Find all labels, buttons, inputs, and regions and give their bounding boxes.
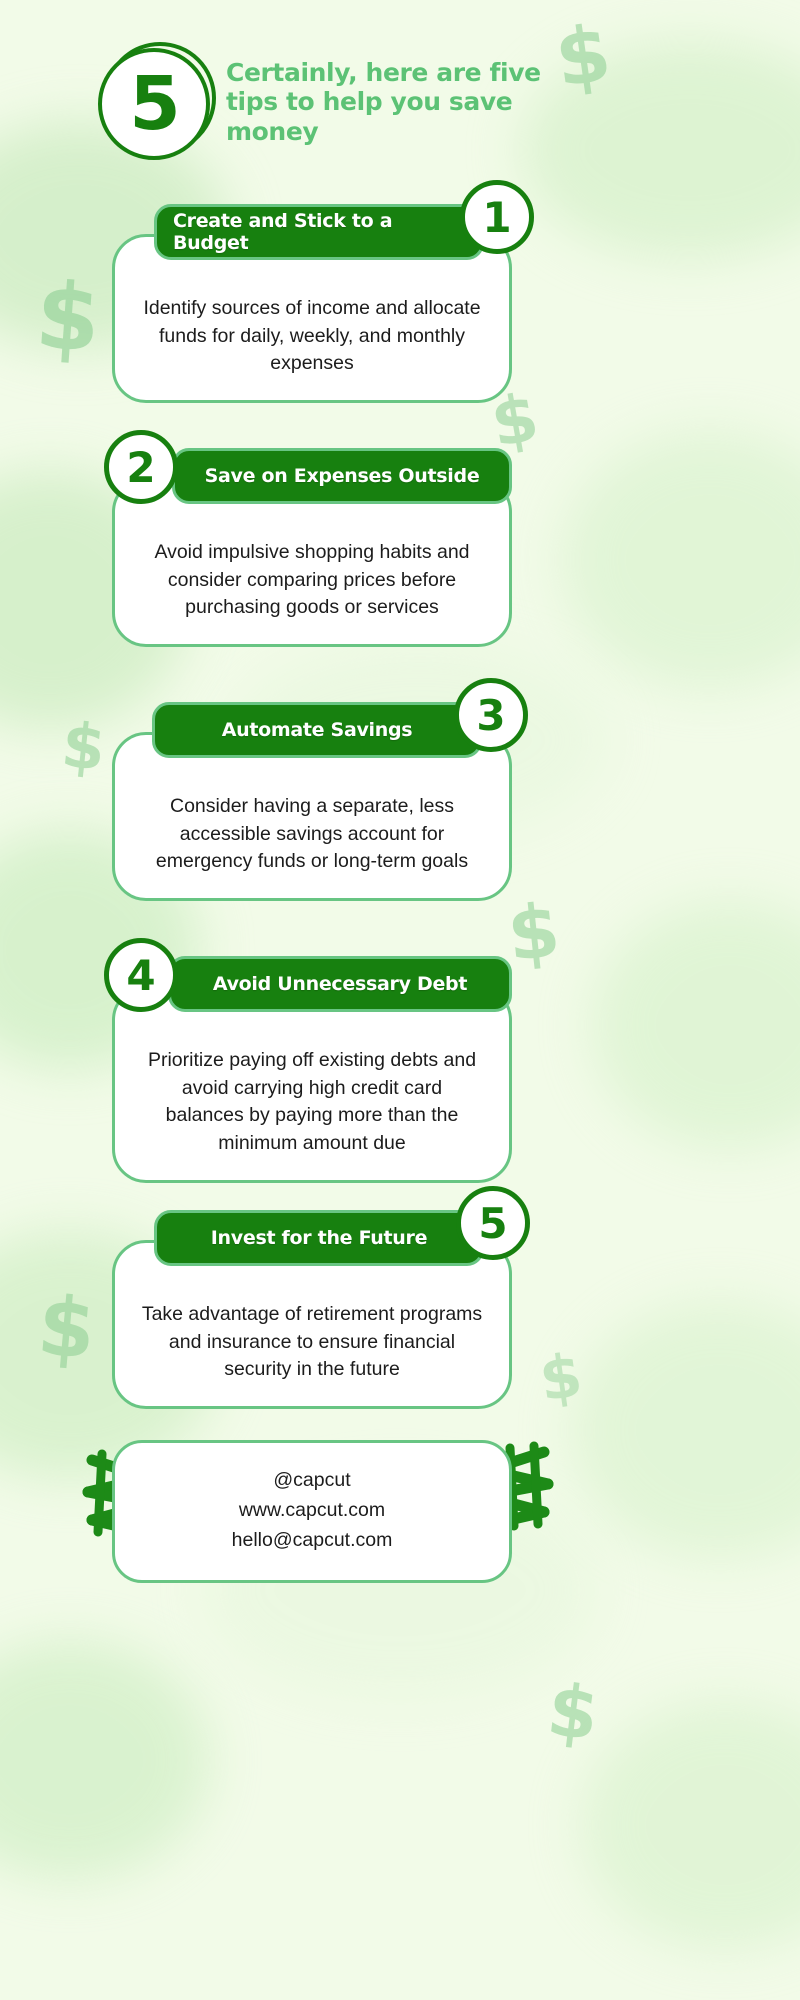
- dollar-sign-icon: $: [544, 1673, 603, 1751]
- tip-card-4-title: Avoid Unnecessary Debt: [168, 956, 512, 1012]
- footer-email[interactable]: hello@capcut.com: [135, 1525, 489, 1555]
- footer-website[interactable]: www.capcut.com: [135, 1495, 489, 1525]
- tip-card-2-title: Save on Expenses Outside: [172, 448, 512, 504]
- page-title: Certainly, here are five tips to help yo…: [226, 58, 556, 146]
- tip-card-5-title: Invest for the Future: [154, 1210, 484, 1266]
- dollar-sign-icon: $: [35, 1286, 99, 1373]
- footer-handle: @capcut: [135, 1465, 489, 1495]
- tip-card-3-title: Automate Savings: [152, 702, 482, 758]
- watercolor-blob: [590, 900, 800, 1150]
- watercolor-blob: [580, 1700, 800, 1950]
- hero-number-badge: 5: [98, 42, 216, 160]
- dollar-sign-icon: $: [504, 894, 563, 973]
- watercolor-blob: [560, 430, 800, 690]
- contact-footer: @capcut www.capcut.com hello@capcut.com: [112, 1440, 512, 1583]
- tip-card-4-number-badge: 4: [104, 938, 178, 1012]
- dollar-sign-icon: $: [33, 270, 103, 366]
- tip-card-1-title: Create and Stick to a Budget: [154, 204, 484, 260]
- infographic-header: 5 Certainly, here are five tips to help …: [0, 0, 800, 200]
- watercolor-blob: [570, 1300, 800, 1560]
- tip-card-3-number-badge: 3: [454, 678, 528, 752]
- tip-card-5-number-badge: 5: [456, 1186, 530, 1260]
- tip-card-4-body: Prioritize paying off existing debts and…: [112, 986, 512, 1183]
- tip-card-2-number-badge: 2: [104, 430, 178, 504]
- dollar-sign-icon: $: [59, 714, 108, 780]
- hero-badge-number: 5: [98, 48, 210, 160]
- tip-card-1-number-badge: 1: [460, 180, 534, 254]
- dollar-sign-icon: $: [536, 1345, 586, 1410]
- watercolor-blob: [0, 1640, 210, 1880]
